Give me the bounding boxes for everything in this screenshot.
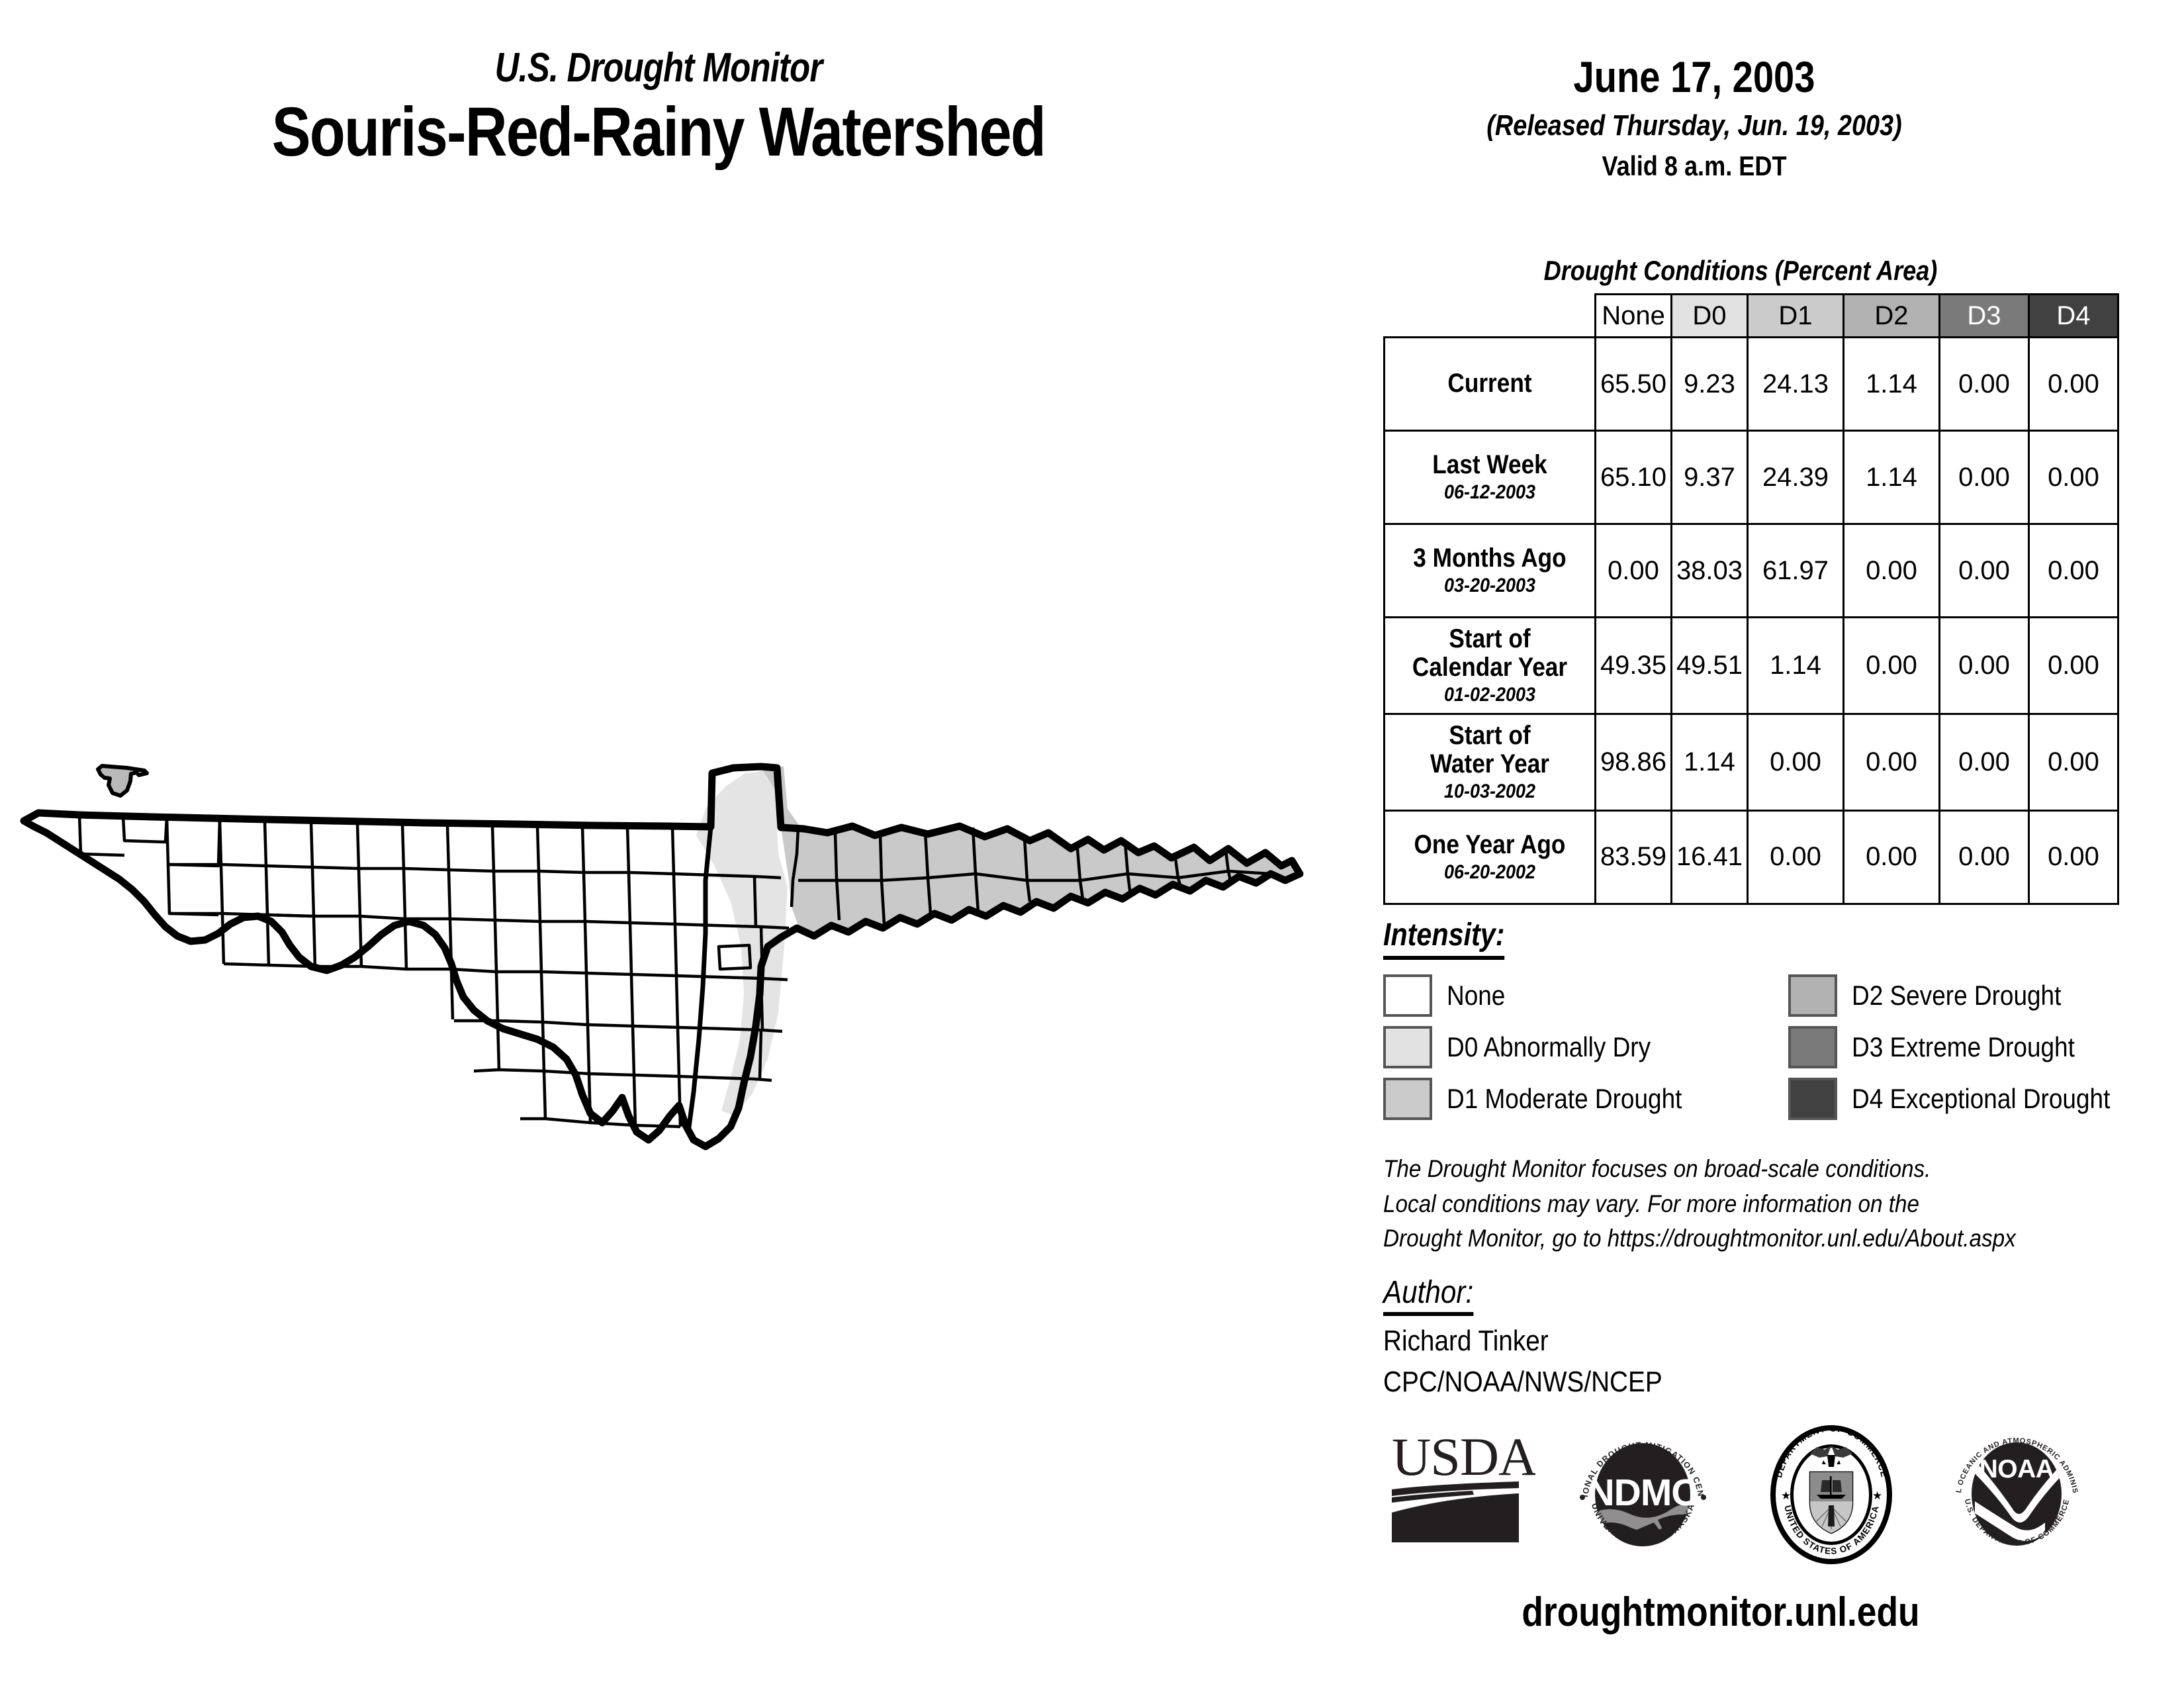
legend-item-d3: D3 Extreme Drought xyxy=(1788,1021,2146,1073)
cell-wateryear-none: 98.86 xyxy=(1596,714,1672,810)
cell-oneyear-none: 83.59 xyxy=(1596,810,1672,904)
table-header-row: None D0 D1 D2 D3 D4 xyxy=(1385,295,2118,338)
cell-3months-d4: 0.00 xyxy=(2029,524,2118,618)
row-label-current: Current xyxy=(1385,338,1596,431)
legend-column-left: None D0 Abnormally Dry D1 Moderate Droug… xyxy=(1383,970,1714,1125)
row-label-date: 01-02-2003 xyxy=(1400,684,1579,706)
legend-swatch-d3 xyxy=(1788,1026,1837,1068)
drought-conditions-table: None D0 D1 D2 D3 D4 Current 65.50 9.23 2… xyxy=(1383,293,2119,905)
cell-wateryear-d3: 0.00 xyxy=(1940,714,2029,810)
valid-date: June 17, 2003 xyxy=(1402,53,1987,101)
cell-oneyear-d2: 0.00 xyxy=(1844,810,1940,904)
author-block: Richard Tinker CPC/NOAA/NWS/NCEP xyxy=(1383,1321,1700,1403)
svg-text:★: ★ xyxy=(1872,1489,1882,1503)
row-label-text: Last Week xyxy=(1402,451,1577,479)
logo-row: USDA NDMC NATIONAL DROUGHT MITIGATION CE… xyxy=(1380,1423,2154,1575)
legend-label-d4: D4 Exceptional Drought xyxy=(1852,1083,2110,1115)
valid-time: Valid 8 a.m. EDT xyxy=(1398,150,1990,182)
department-of-commerce-seal: DEPARTMENT OF COMMERCE UNITED STATES OF … xyxy=(1764,1423,1899,1566)
cell-calyear-d3: 0.00 xyxy=(1940,618,2029,714)
legend-column-right: D2 Severe Drought D3 Extreme Drought D4 … xyxy=(1788,970,2146,1125)
row-label-date: 10-03-2002 xyxy=(1400,781,1579,802)
table-row: Start of Calendar Year 01-02-2003 49.35 … xyxy=(1385,618,2118,714)
legend-swatch-d0 xyxy=(1383,1026,1432,1068)
cell-calyear-d4: 0.00 xyxy=(2029,618,2118,714)
cell-lastweek-none: 65.10 xyxy=(1596,431,1672,524)
table-row: 3 Months Ago 03-20-2003 0.00 38.03 61.97… xyxy=(1385,524,2118,618)
column-header-d2: D2 xyxy=(1844,295,1940,338)
column-header-d3: D3 xyxy=(1940,295,2029,338)
cell-oneyear-d0: 16.41 xyxy=(1672,810,1748,904)
disclaimer-text: The Drought Monitor focuses on broad-sca… xyxy=(1383,1152,2177,1256)
table-row: Last Week 06-12-2003 65.10 9.37 24.39 1.… xyxy=(1385,431,2118,524)
row-label-text-line1: Start of xyxy=(1402,722,1577,750)
legend-item-none: None xyxy=(1383,970,1714,1021)
cell-oneyear-d1: 0.00 xyxy=(1748,810,1844,904)
disclaimer-line-1: The Drought Monitor focuses on broad-sca… xyxy=(1383,1152,2098,1187)
cell-current-d1: 24.13 xyxy=(1748,338,1844,431)
usda-logo: USDA xyxy=(1387,1423,1535,1556)
release-date: (Released Thursday, Jun. 19, 2003) xyxy=(1398,109,1990,143)
row-label-one-year-ago: One Year Ago 06-20-2002 xyxy=(1385,810,1596,904)
cell-lastweek-d4: 0.00 xyxy=(2029,431,2118,524)
legend-label-d2: D2 Severe Drought xyxy=(1852,980,2061,1011)
noaa-logo: NOAA NATIONAL OCEANIC AND ATMOSPHERIC AD… xyxy=(1946,1423,2088,1566)
table-row: One Year Ago 06-20-2002 83.59 16.41 0.00… xyxy=(1385,810,2118,904)
cell-current-d2: 1.14 xyxy=(1844,338,1940,431)
map-inset-polygon xyxy=(93,755,165,814)
svg-text:USDA: USDA xyxy=(1392,1427,1535,1487)
program-title: U.S. Drought Monitor xyxy=(118,46,1199,89)
table-caption: Drought Conditions (Percent Area) xyxy=(1405,255,2077,287)
cell-current-d4: 0.00 xyxy=(2029,338,2118,431)
legend-swatch-d2 xyxy=(1788,974,1837,1017)
legend-label-none: None xyxy=(1447,980,1505,1011)
table-row: Current 65.50 9.23 24.13 1.14 0.00 0.00 xyxy=(1385,338,2118,431)
author-affiliation: CPC/NOAA/NWS/NCEP xyxy=(1383,1362,1662,1403)
cell-calyear-d0: 49.51 xyxy=(1672,618,1748,714)
watershed-map xyxy=(0,748,1324,1158)
author-name: Richard Tinker xyxy=(1383,1321,1662,1362)
cell-current-d0: 9.23 xyxy=(1672,338,1748,431)
column-header-d1: D1 xyxy=(1748,295,1844,338)
cell-lastweek-d0: 9.37 xyxy=(1672,431,1748,524)
cell-oneyear-d4: 0.00 xyxy=(2029,810,2118,904)
disclaimer-line-2: Local conditions may vary. For more info… xyxy=(1383,1187,2098,1222)
cell-3months-none: 0.00 xyxy=(1596,524,1672,618)
row-label-text-line2: Water Year xyxy=(1402,750,1577,778)
row-label-3-months-ago: 3 Months Ago 03-20-2003 xyxy=(1385,524,1596,618)
legend-item-d2: D2 Severe Drought xyxy=(1788,970,2146,1021)
cell-oneyear-d3: 0.00 xyxy=(1940,810,2029,904)
map-graphic xyxy=(0,748,1324,1158)
map-outer-boundary xyxy=(24,767,1300,1147)
cell-3months-d2: 0.00 xyxy=(1844,524,1940,618)
row-label-date: 03-20-2003 xyxy=(1400,575,1579,596)
svg-text:NDMC: NDMC xyxy=(1588,1472,1698,1514)
table-corner-cell xyxy=(1385,295,1596,338)
ndmc-logo: NDMC NATIONAL DROUGHT MITIGATION CENTER … xyxy=(1572,1423,1714,1566)
row-label-text-line2: Calendar Year xyxy=(1402,653,1577,682)
page-title: Souris-Red-Rainy Watershed xyxy=(105,93,1212,171)
cell-3months-d0: 38.03 xyxy=(1672,524,1748,618)
row-label-text: Current xyxy=(1402,369,1577,398)
legend-item-d0: D0 Abnormally Dry xyxy=(1383,1021,1714,1073)
column-header-d0: D0 xyxy=(1672,295,1748,338)
legend-label-d1: D1 Moderate Drought xyxy=(1447,1083,1682,1115)
cell-lastweek-d2: 1.14 xyxy=(1844,431,1940,524)
date-block: June 17, 2003 (Released Thursday, Jun. 1… xyxy=(1350,53,2038,182)
legend-item-d1: D1 Moderate Drought xyxy=(1383,1073,1714,1125)
cell-calyear-d2: 0.00 xyxy=(1844,618,1940,714)
row-label-date: 06-12-2003 xyxy=(1400,482,1579,503)
cell-wateryear-d0: 1.14 xyxy=(1672,714,1748,810)
cell-wateryear-d2: 0.00 xyxy=(1844,714,1940,810)
column-header-d4: D4 xyxy=(2029,295,2118,338)
legend-swatch-d1 xyxy=(1383,1078,1432,1120)
svg-text:NOAA: NOAA xyxy=(1979,1455,2054,1483)
footer-url: droughtmonitor.unl.edu xyxy=(1402,1589,2039,1636)
row-label-start-of-water-year: Start of Water Year 10-03-2002 xyxy=(1385,714,1596,810)
svg-text:★: ★ xyxy=(1781,1489,1791,1503)
title-block: U.S. Drought Monitor Souris-Red-Rainy Wa… xyxy=(0,46,1317,171)
legend-label-d0: D0 Abnormally Dry xyxy=(1447,1031,1651,1063)
legend-swatch-d4 xyxy=(1788,1078,1837,1120)
row-label-text: 3 Months Ago xyxy=(1402,544,1577,573)
legend-label-d3: D3 Extreme Drought xyxy=(1852,1031,2075,1063)
cell-current-d3: 0.00 xyxy=(1940,338,2029,431)
row-label-text-line1: Start of xyxy=(1402,625,1577,653)
intensity-heading: Intensity: xyxy=(1383,917,1504,960)
cell-current-none: 65.50 xyxy=(1596,338,1672,431)
legend-swatch-none xyxy=(1383,974,1432,1017)
legend-item-d4: D4 Exceptional Drought xyxy=(1788,1073,2146,1125)
author-heading: Author: xyxy=(1383,1274,1473,1316)
table-row: Start of Water Year 10-03-2002 98.86 1.1… xyxy=(1385,714,2118,810)
column-header-none: None xyxy=(1596,295,1672,338)
cell-lastweek-d3: 0.00 xyxy=(1940,431,2029,524)
row-label-date: 06-20-2002 xyxy=(1400,862,1579,883)
row-label-start-of-calendar-year: Start of Calendar Year 01-02-2003 xyxy=(1385,618,1596,714)
cell-calyear-d1: 1.14 xyxy=(1748,618,1844,714)
cell-calyear-none: 49.35 xyxy=(1596,618,1672,714)
cell-3months-d1: 61.97 xyxy=(1748,524,1844,618)
cell-lastweek-d1: 24.39 xyxy=(1748,431,1844,524)
row-label-last-week: Last Week 06-12-2003 xyxy=(1385,431,1596,524)
row-label-text: One Year Ago xyxy=(1402,831,1577,859)
cell-wateryear-d4: 0.00 xyxy=(2029,714,2118,810)
cell-wateryear-d1: 0.00 xyxy=(1748,714,1844,810)
disclaimer-line-3: Drought Monitor, go to https://droughtmo… xyxy=(1383,1221,2098,1256)
cell-3months-d3: 0.00 xyxy=(1940,524,2029,618)
